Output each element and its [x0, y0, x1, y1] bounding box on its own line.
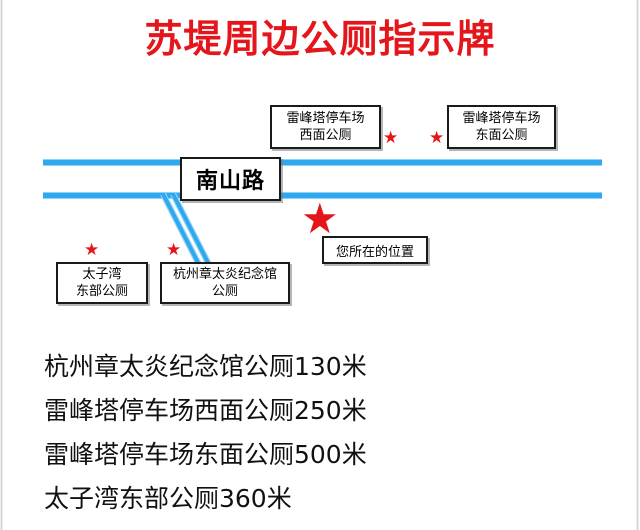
sign-title: 苏堤周边公厕指示牌	[0, 16, 640, 62]
label-box-taiziwan-east: 太子湾 东部公厕	[56, 262, 148, 304]
road-line-north	[43, 159, 602, 166]
star-icon-current-location: ★	[301, 198, 339, 240]
toilet-direction-sign: 苏堤周边公厕指示牌 南山路 雷峰塔停车场 西面公厕 ★ 雷峰塔停车场 东面公厕 …	[0, 0, 640, 530]
label-text-current-location: 您所在的位置	[336, 241, 414, 260]
star-icon-leifeng-west: ★	[383, 130, 398, 147]
list-item: 太子湾东部公厕360米	[44, 477, 604, 521]
label-text-leifeng-west: 雷峰塔停车场 西面公厕	[286, 110, 364, 144]
star-icon-taiziwan-east: ★	[84, 242, 99, 259]
label-text-leifeng-east: 雷峰塔停车场 东面公厕	[462, 110, 540, 144]
list-item: 杭州章太炎纪念馆公厕130米	[44, 345, 604, 389]
label-box-leifeng-east: 雷峰塔停车场 东面公厕	[447, 105, 556, 149]
distance-list: 杭州章太炎纪念馆公厕130米 雷峰塔停车场西面公厕250米 雷峰塔停车场东面公厕…	[44, 345, 604, 521]
star-icon-zhangtaiyan: ★	[166, 242, 181, 259]
label-text-zhangtaiyan: 杭州章太炎纪念馆 公厕	[173, 266, 277, 300]
list-item: 雷峰塔停车场东面公厕500米	[44, 433, 604, 477]
star-icon-leifeng-east: ★	[429, 130, 444, 147]
label-box-leifeng-west: 雷峰塔停车场 西面公厕	[270, 105, 381, 149]
map-area: 南山路 雷峰塔停车场 西面公厕 ★ 雷峰塔停车场 东面公厕 ★ 太子湾 东部公厕…	[0, 90, 640, 320]
label-box-zhangtaiyan: 杭州章太炎纪念馆 公厕	[160, 262, 290, 304]
label-box-current-location: 您所在的位置	[322, 236, 428, 264]
label-text-taiziwan-east: 太子湾 东部公厕	[76, 266, 128, 300]
road-name-plate: 南山路	[180, 157, 281, 201]
road-name-label: 南山路	[196, 163, 265, 195]
list-item: 雷峰塔停车场西面公厕250米	[44, 389, 604, 433]
